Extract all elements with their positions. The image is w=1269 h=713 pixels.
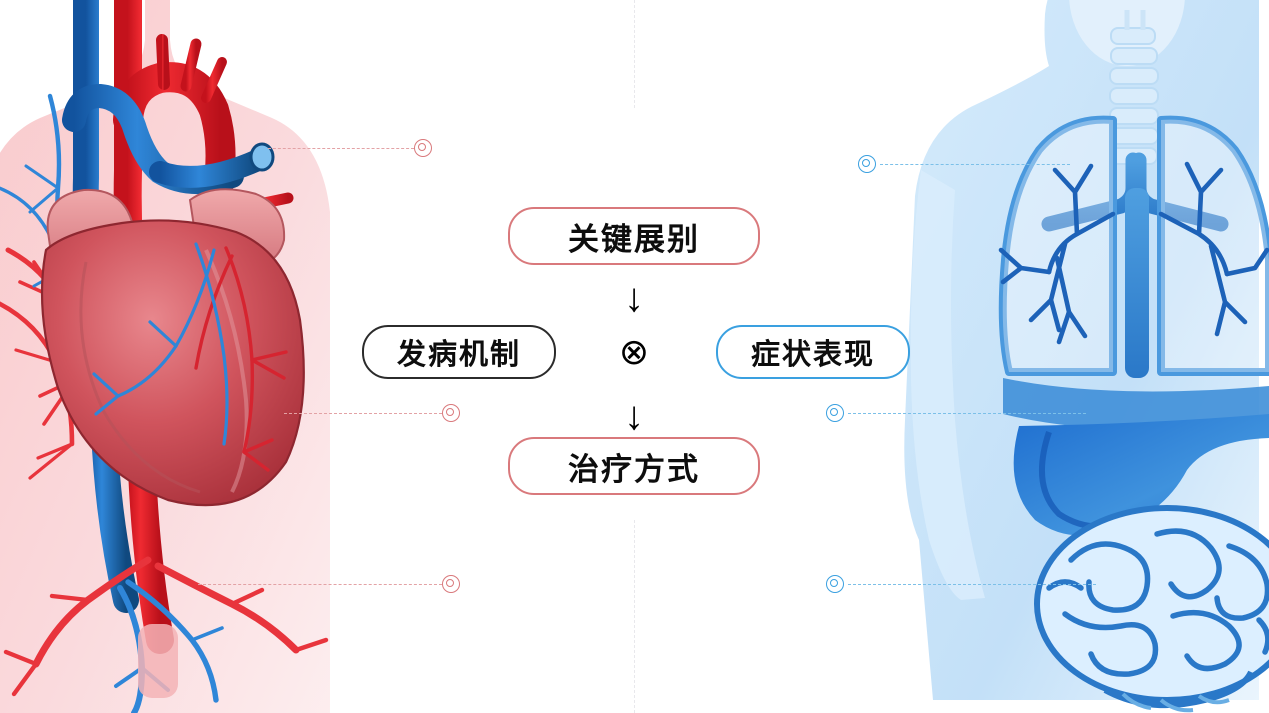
ring-marker-right-2 xyxy=(826,404,844,422)
ring-marker-right-3 xyxy=(826,575,844,593)
ring-marker-right-1 xyxy=(858,155,876,173)
heart-illustration-panel xyxy=(0,0,360,713)
leader-line-right-1 xyxy=(880,164,1070,165)
leader-line-right-3 xyxy=(848,584,1096,585)
leader-line-right-2 xyxy=(848,413,1086,414)
leader-line-left-3 xyxy=(198,584,442,585)
ring-marker-left-3 xyxy=(442,575,460,593)
leader-line-left-2 xyxy=(284,413,442,414)
ring-marker-left-2 xyxy=(442,404,460,422)
arrow-down-icon-bottom: ↓ xyxy=(604,396,664,436)
flow-node-symptoms[interactable]: 症状表现 xyxy=(716,325,910,379)
center-guide-top xyxy=(634,0,635,108)
body-organs-icon xyxy=(899,0,1269,713)
arrow-down-icon-top: ↓ xyxy=(604,278,664,318)
ring-marker-left-1 xyxy=(414,139,432,157)
anatomical-heart-icon xyxy=(0,0,360,713)
organs-illustration-panel xyxy=(899,0,1269,713)
flow-node-key-differentiation[interactable]: 关键展别 xyxy=(508,207,760,265)
center-guide-bottom xyxy=(634,520,635,713)
flow-node-treatment[interactable]: 治疗方式 xyxy=(508,437,760,495)
cross-circle-icon: ⊗ xyxy=(604,334,664,370)
leader-line-left-1 xyxy=(268,148,414,149)
infographic-canvas: 关键展别 ↓ 发病机制 ⊗ 症状表现 ↓ 治疗方式 xyxy=(0,0,1269,713)
flow-node-pathogenesis[interactable]: 发病机制 xyxy=(362,325,556,379)
